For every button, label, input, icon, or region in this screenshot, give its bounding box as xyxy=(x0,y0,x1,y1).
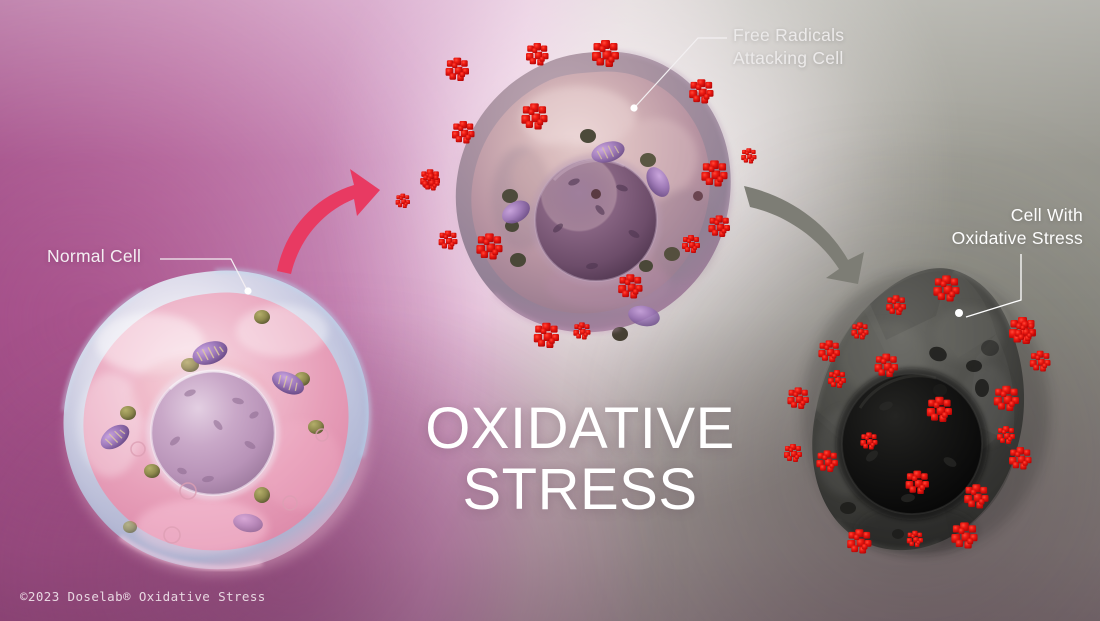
illustration-canvas: OXIDATIVE STRESS Normal Cell Free Radica… xyxy=(0,0,1100,621)
normal-cell-illustration xyxy=(50,265,380,575)
callout-free-radicals-line2: Attacking Cell xyxy=(733,47,844,70)
callout-normal-cell-line1: Normal Cell xyxy=(47,246,141,266)
page-title-line2: STRESS xyxy=(380,459,780,520)
page-title: OXIDATIVE STRESS xyxy=(380,398,780,521)
callout-stressed-cell-line1: Cell With xyxy=(952,204,1083,227)
page-title-line1: OXIDATIVE xyxy=(425,396,735,461)
callout-stressed-cell: Cell With Oxidative Stress xyxy=(952,204,1083,250)
attacked-cell-illustration xyxy=(448,48,738,338)
callout-free-radicals: Free Radicals Attacking Cell xyxy=(733,24,844,70)
normal-cell-nucleus xyxy=(146,366,280,500)
grey-transition-arrow xyxy=(736,176,876,286)
callout-normal-cell: Normal Cell xyxy=(47,245,141,268)
copyright-notice: ©2023 Doselab® Oxidative Stress xyxy=(20,589,266,604)
stressed-cell-illustration xyxy=(790,262,1060,562)
pink-transition-arrow xyxy=(258,160,388,290)
stressed-cell-nucleus xyxy=(836,368,988,520)
callout-stressed-cell-line2: Oxidative Stress xyxy=(952,227,1083,250)
callout-free-radicals-line1: Free Radicals xyxy=(733,24,844,47)
